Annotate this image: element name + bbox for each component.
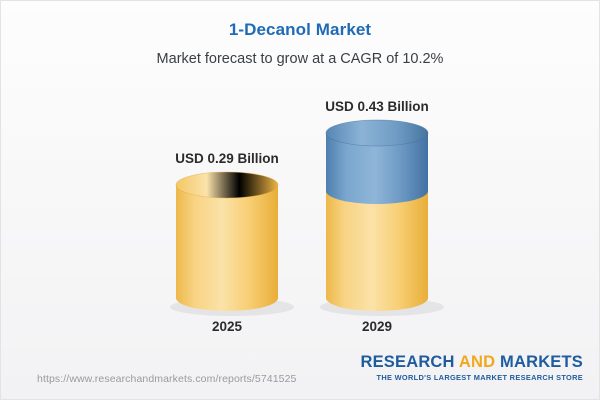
bar-2029 — [326, 120, 428, 311]
bar-2025 — [176, 172, 278, 311]
logo-word-markets: MARKETS — [500, 353, 583, 371]
data-label-2029: USD 0.43 Billion — [287, 99, 467, 114]
source-url[interactable]: https://www.researchandmarkets.com/repor… — [37, 373, 296, 385]
logo-word-and: AND — [459, 353, 495, 371]
x-axis-label-2029: 2029 — [287, 319, 467, 334]
logo-tagline: THE WORLD'S LARGEST MARKET RESEARCH STOR… — [360, 373, 583, 382]
research-and-markets-logo[interactable]: RESEARCH AND MARKETS THE WORLD'S LARGEST… — [360, 354, 583, 382]
bars-svg — [1, 1, 600, 400]
logo-word-research: RESEARCH — [360, 353, 454, 371]
chart-plot-area: USD 0.29 Billion USD 0.43 Billion 2025 2… — [1, 1, 600, 400]
data-label-2025: USD 0.29 Billion — [137, 151, 317, 166]
logo-wordmark: RESEARCH AND MARKETS — [360, 354, 583, 371]
chart-card: 1-Decanol Market Market forecast to grow… — [0, 0, 600, 400]
